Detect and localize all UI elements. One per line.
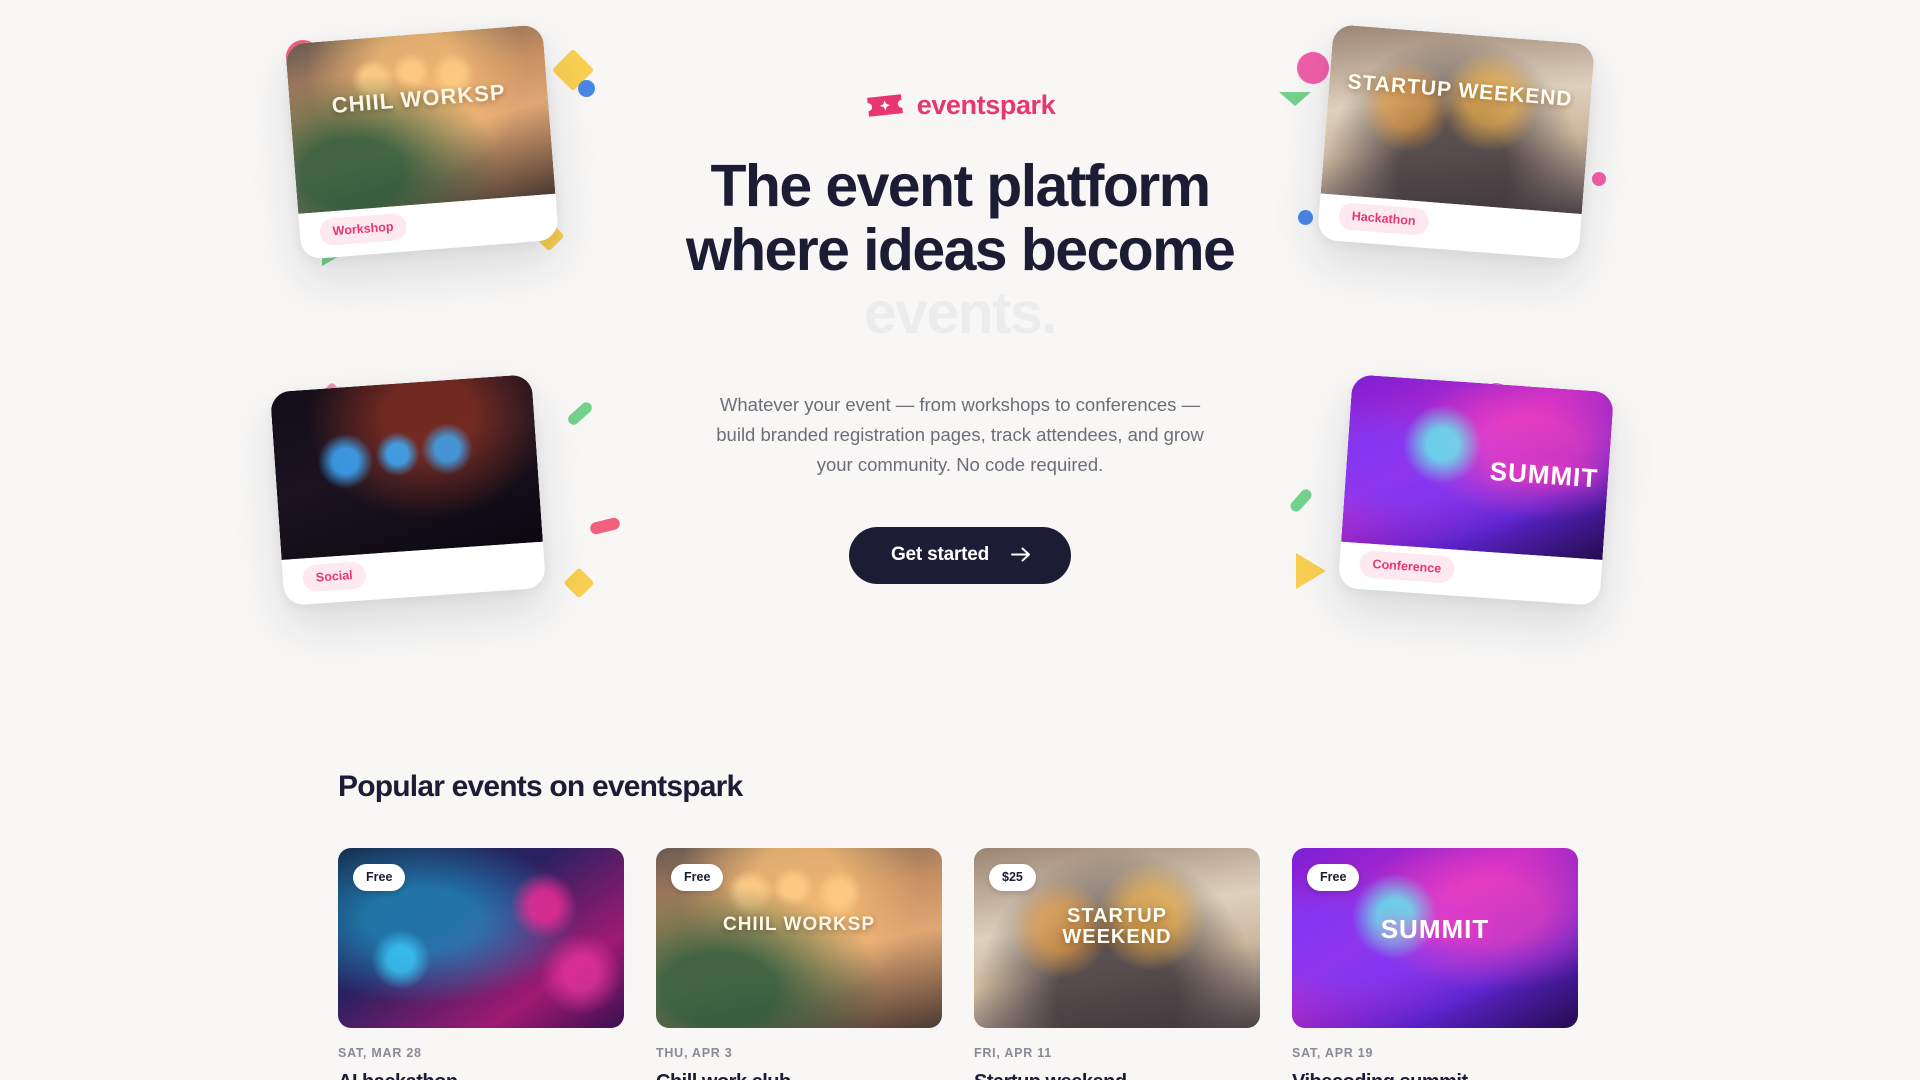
brand-logo[interactable]: eventspark — [865, 90, 1056, 121]
section-title: Popular events on eventspark — [338, 770, 1588, 804]
price-badge: Free — [353, 864, 405, 891]
arrow-right-icon — [1011, 547, 1031, 562]
event-image: Free — [338, 848, 624, 1028]
brand-name: eventspark — [917, 90, 1056, 121]
hero-section: eventspark The event platform where idea… — [0, 90, 1920, 584]
event-card[interactable]: $25 STARTUPWEEKEND FRI, APR 11 Startup w… — [974, 848, 1260, 1080]
headline-line-2: where ideas become — [686, 217, 1234, 283]
event-image-text: CHIIL WORKSP — [656, 914, 942, 936]
event-card[interactable]: Free SAT, MAR 28 AI hackathon — [338, 848, 624, 1080]
event-image: Free SUMMIT — [1292, 848, 1578, 1028]
get-started-label: Get started — [891, 544, 989, 566]
price-badge: Free — [1307, 864, 1359, 891]
event-date: THU, APR 3 — [656, 1046, 942, 1060]
event-date: SAT, MAR 28 — [338, 1046, 624, 1060]
event-date: SAT, APR 19 — [1292, 1046, 1578, 1060]
event-card[interactable]: Free CHIIL WORKSP THU, APR 3 Chill work … — [656, 848, 942, 1080]
price-badge: Free — [671, 864, 723, 891]
popular-events-grid: Free SAT, MAR 28 AI hackathon Free CHIIL… — [338, 848, 1588, 1080]
decor-circle-pink-right — [1297, 52, 1329, 84]
popular-events-section: Popular events on eventspark Free SAT, M… — [338, 770, 1588, 1080]
event-card[interactable]: Free SUMMIT SAT, APR 19 Vibecoding summi… — [1292, 848, 1578, 1080]
event-title: AI hackathon — [338, 1071, 624, 1080]
price-badge: $25 — [989, 864, 1036, 891]
event-title: Vibecoding summit — [1292, 1071, 1578, 1080]
event-image: $25 STARTUPWEEKEND — [974, 848, 1260, 1028]
ticket-icon — [865, 92, 905, 119]
event-date: FRI, APR 11 — [974, 1046, 1260, 1060]
event-title: Chill work club — [656, 1071, 942, 1080]
page-root: CHIIL WORKSP Workshop STARTUP WEEKEND Ha… — [0, 0, 1920, 1080]
event-image-text: SUMMIT — [1292, 914, 1578, 945]
page-title: The event platform where ideas become ev… — [686, 155, 1234, 346]
hero-subtitle: Whatever your event — from workshops to … — [700, 390, 1220, 480]
get-started-button[interactable]: Get started — [849, 527, 1071, 584]
event-title: Startup weekend — [974, 1071, 1260, 1080]
event-image: Free CHIIL WORKSP — [656, 848, 942, 1028]
event-image-text: STARTUPWEEKEND — [974, 906, 1260, 948]
headline-line-1: The event platform — [710, 153, 1209, 219]
headline-line-3: events. — [686, 282, 1234, 346]
